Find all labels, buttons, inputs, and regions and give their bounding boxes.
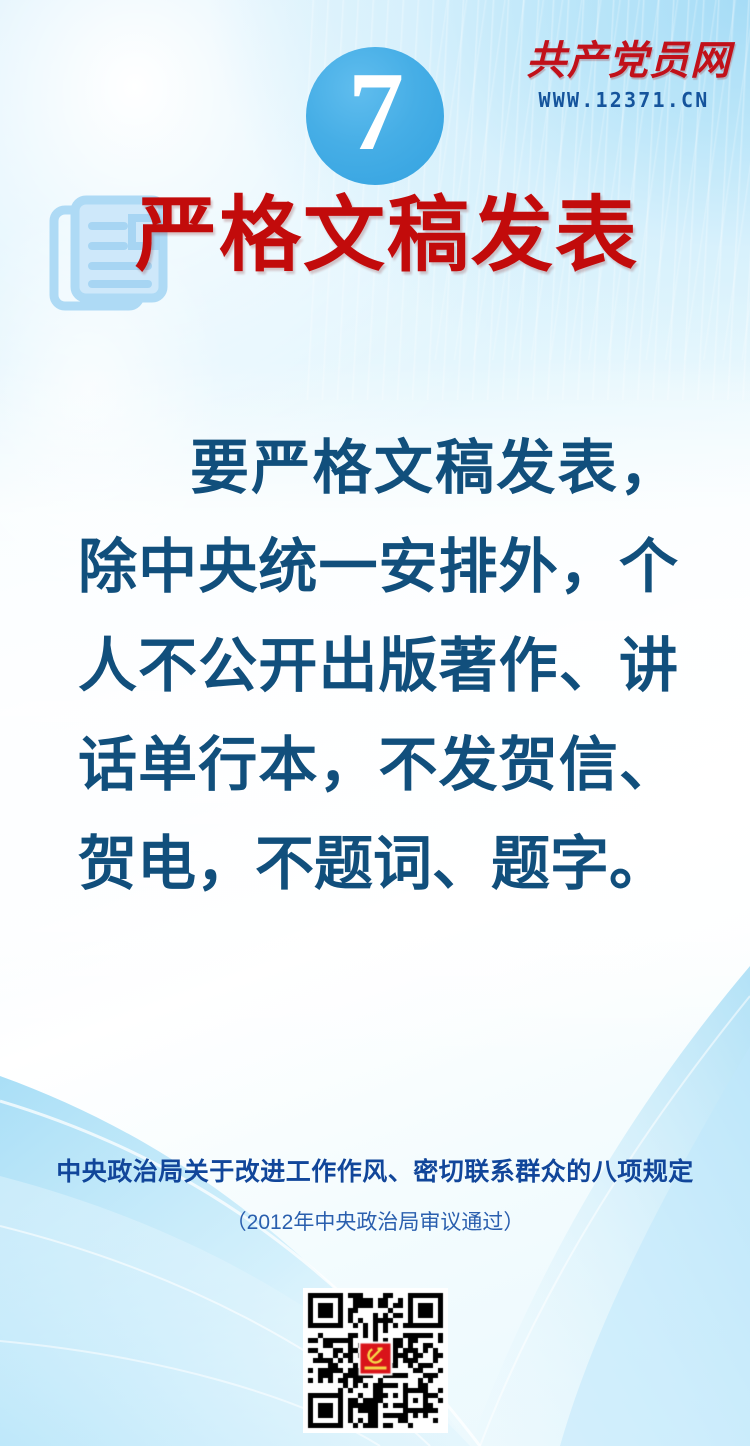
body-paragraph: 要严格文稿发表，除中央统一安排外，个人不公开出版著作、讲话单行本，不发贺信、贺电… [78, 418, 678, 913]
qr-code-canvas[interactable] [303, 1288, 448, 1433]
poster-root: 共产党员网 WWW.12371.CN 7 严格文稿发表 要严格文稿发表，除中央统… [0, 0, 750, 1446]
item-number-badge: 7 [306, 47, 444, 185]
footer-regulation-subtitle: （2012年中央政治局审议通过） [0, 1206, 750, 1236]
brand-url: WWW.12371.CN [526, 88, 722, 112]
item-number: 7 [348, 56, 402, 168]
page-title: 严格文稿发表 [135, 190, 639, 282]
headline-row: 严格文稿发表 [0, 186, 750, 316]
footer-regulation-title: 中央政治局关于改进工作作风、密切联系群众的八项规定 [0, 1152, 750, 1188]
qr-code[interactable] [303, 1288, 448, 1433]
brand-name: 共产党员网 [526, 40, 722, 82]
brand-logo: 共产党员网 WWW.12371.CN [526, 40, 722, 112]
